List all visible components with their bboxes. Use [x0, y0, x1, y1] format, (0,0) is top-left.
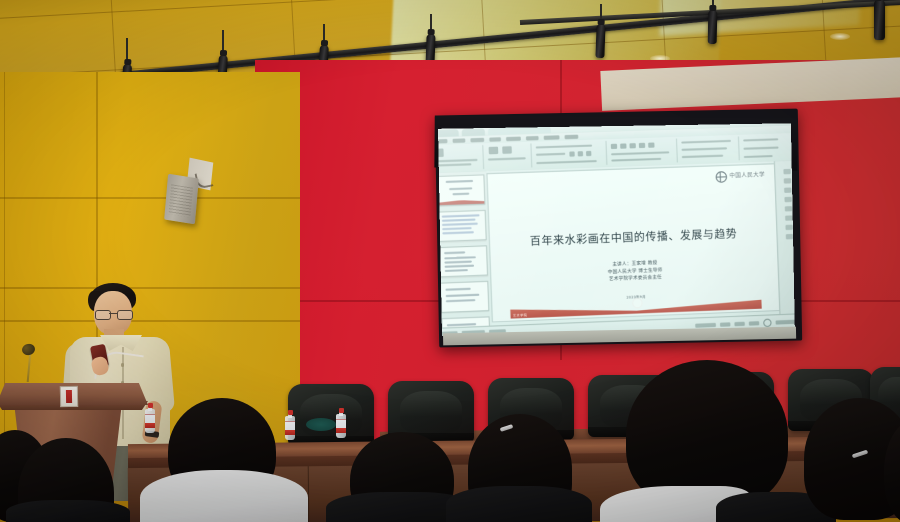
titlebar-tab[interactable]	[462, 128, 485, 136]
bottle-label	[336, 419, 346, 433]
presentation-app: 中国人民大学 百年来水彩画在中国的传播、发展与趋势 主讲人：王家增 教授 中国人…	[438, 123, 795, 336]
new-slide-icon[interactable]	[489, 147, 499, 155]
pane-item[interactable]	[783, 169, 790, 174]
thumb-ribbon	[438, 199, 484, 205]
university-emblem-icon	[716, 171, 728, 183]
projection-screen: 中国人民大学 百年来水彩画在中国的传播、发展与趋势 主讲人：王家增 教授 中国人…	[435, 109, 802, 348]
slide-title: 百年来水彩画在中国的传播、发展与趋势	[490, 224, 777, 250]
thumb-line	[442, 214, 480, 217]
audience-body	[6, 500, 130, 522]
pane-item[interactable]	[784, 206, 791, 211]
bold-icon[interactable]	[569, 151, 574, 156]
bottle-label	[145, 414, 155, 428]
spotlight-icon	[595, 24, 605, 58]
view-reading-button[interactable]	[734, 322, 744, 327]
downlight-icon	[830, 33, 850, 40]
university-logo-text: 中国人民大学	[729, 173, 765, 180]
thumb-line	[442, 223, 478, 226]
align-left-icon[interactable]	[639, 143, 645, 148]
water-bottle	[145, 403, 155, 433]
ribbon-group-slides[interactable]	[484, 143, 532, 169]
thumb-line	[446, 299, 475, 302]
pane-item[interactable]	[785, 215, 792, 220]
ribbon-row	[611, 151, 669, 155]
podium-name-card	[60, 386, 78, 407]
water-bottle	[285, 410, 295, 440]
spotlight-icon	[874, 0, 885, 40]
slide-thumbnail[interactable]	[439, 245, 488, 277]
glasses-lens-right	[117, 310, 133, 320]
select-row[interactable]	[744, 155, 773, 158]
slide-thumbnail[interactable]	[440, 281, 489, 313]
slide-subtitle: 主讲人：王家增 教授 中国人民大学 博士生导师 艺术学院学术委员会主任	[491, 256, 778, 288]
pane-item[interactable]	[783, 178, 790, 183]
find-row[interactable]	[743, 138, 778, 141]
layout-icon[interactable]	[502, 146, 512, 154]
numbering-icon[interactable]	[620, 143, 626, 148]
wall-speaker-icon	[164, 174, 199, 225]
ribbon-group-font[interactable]	[532, 141, 607, 167]
font-name-box[interactable]	[536, 145, 592, 149]
thumb-line	[444, 251, 465, 253]
ribbon-row	[682, 155, 723, 158]
ribbon-group-paragraph[interactable]	[608, 139, 678, 165]
italic-icon[interactable]	[578, 151, 583, 156]
ribbon-tag-text: 艺术学院	[513, 313, 527, 318]
ribbon-group-editing[interactable]	[740, 135, 792, 161]
align-center-icon[interactable]	[648, 142, 654, 147]
chair-cushion	[306, 418, 336, 431]
ribbon-tab[interactable]	[453, 138, 466, 143]
spotlight-icon	[708, 10, 718, 44]
ribbon-tab[interactable]	[470, 137, 484, 142]
font-size-box[interactable]	[536, 153, 565, 156]
ribbon-center-circle	[632, 298, 643, 309]
slide-thumbnail[interactable]	[438, 174, 485, 206]
glasses-icon	[95, 310, 131, 318]
wall-seam	[0, 197, 300, 199]
thumb-line	[445, 288, 470, 291]
thumb-line	[445, 269, 468, 271]
zoom-slider-handle[interactable]	[763, 319, 772, 328]
view-normal-button[interactable]	[695, 323, 716, 328]
glasses-bridge	[109, 313, 117, 314]
screen-surface: 中国人民大学 百年来水彩画在中国的传播、发展与趋势 主讲人：王家增 教授 中国人…	[438, 123, 795, 336]
zoom-level[interactable]	[776, 320, 795, 325]
thumb-line	[442, 231, 474, 234]
paste-icon[interactable]	[438, 149, 444, 158]
wall-seam	[4, 72, 5, 492]
audience-body	[446, 486, 592, 522]
view-sorter-button[interactable]	[720, 322, 730, 327]
university-logo: 中国人民大学	[716, 170, 766, 183]
thumb-line	[442, 227, 471, 230]
ribbon-tab[interactable]	[544, 135, 560, 140]
indent-icon[interactable]	[629, 143, 635, 148]
slide-thumbnail[interactable]	[438, 210, 487, 242]
ribbon-row	[681, 140, 731, 144]
audience-body	[140, 470, 308, 522]
thumb-line	[446, 294, 480, 297]
water-bottle	[336, 408, 346, 438]
thumb-line	[449, 187, 472, 189]
ribbon-tab[interactable]	[526, 135, 539, 140]
pane-item[interactable]	[785, 234, 792, 239]
ribbon-row	[438, 159, 478, 163]
lecture-hall-photo: 中国人民大学 百年来水彩画在中国的传播、发展与趋势 主讲人：王家增 教授 中国人…	[0, 0, 900, 522]
bullets-icon[interactable]	[611, 144, 617, 149]
thumb-line	[446, 180, 473, 183]
ribbon-row	[611, 158, 661, 162]
underline-icon[interactable]	[586, 151, 591, 156]
slideshow-button[interactable]	[749, 321, 759, 326]
conference-chair	[288, 384, 374, 446]
ribbon-group-drawing[interactable]	[678, 136, 740, 162]
replace-row[interactable]	[743, 147, 778, 150]
pane-item[interactable]	[785, 225, 792, 230]
thumb-line	[444, 261, 471, 264]
ribbon-row	[488, 157, 526, 160]
bottle-cap	[288, 410, 293, 415]
bottle-label	[285, 421, 295, 435]
pane-item[interactable]	[784, 197, 791, 202]
ribbon-tab[interactable]	[506, 136, 521, 141]
slide-canvas[interactable]: 中国人民大学 百年来水彩画在中国的传播、发展与趋势 主讲人：王家增 教授 中国人…	[486, 161, 780, 327]
ribbon-tab[interactable]	[438, 138, 447, 143]
ribbon-tab[interactable]	[489, 137, 501, 142]
ribbon-row	[682, 147, 728, 151]
ribbon-row	[438, 163, 471, 166]
pane-item[interactable]	[784, 187, 791, 192]
bottle-cap	[148, 403, 153, 408]
thumb-line	[442, 219, 476, 222]
thumb-line	[445, 265, 474, 268]
thumb-line	[452, 193, 469, 195]
ribbon-tab[interactable]	[565, 134, 579, 139]
current-slide[interactable]: 中国人民大学 百年来水彩画在中国的传播、发展与趋势 主讲人：王家增 教授 中国人…	[486, 163, 780, 322]
ribbon-row	[536, 160, 597, 164]
thumb-line	[444, 256, 476, 259]
ribbon-group-clipboard[interactable]	[438, 145, 484, 171]
glasses-lens-left	[95, 310, 111, 320]
bottle-cap	[339, 408, 344, 413]
